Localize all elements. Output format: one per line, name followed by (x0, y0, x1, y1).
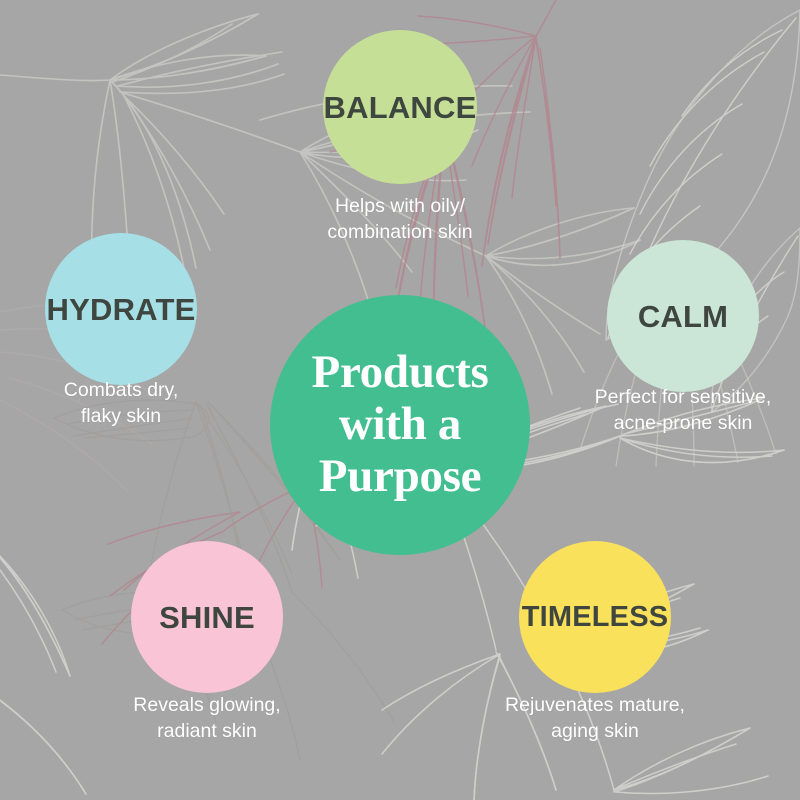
bubble-circle-calm[interactable]: CALM (607, 240, 759, 392)
bubble-circle-hydrate[interactable]: HYDRATE (45, 233, 197, 385)
center-node[interactable]: Products with a Purpose (270, 295, 530, 555)
bubble-caption-timeless: Rejuvenates mature, aging skin (465, 693, 725, 744)
bubble-circle-timeless[interactable]: TIMELESS (519, 541, 671, 693)
bubble-caption-shine: Reveals glowing, radiant skin (82, 693, 332, 744)
center-title: Products with a Purpose (312, 347, 489, 502)
bubble-node-shine[interactable]: SHINE Reveals glowing, radiant skin (131, 541, 283, 693)
infographic-canvas: BALANCE Helps with oily/ combination ski… (0, 0, 800, 800)
bubble-node-balance[interactable]: BALANCE Helps with oily/ combination ski… (323, 30, 477, 184)
bubble-node-timeless[interactable]: TIMELESS Rejuvenates mature, aging skin (519, 541, 671, 693)
bubble-caption-balance: Helps with oily/ combination skin (280, 194, 520, 245)
bubble-label-timeless: TIMELESS (522, 603, 669, 632)
bubble-label-balance: BALANCE (324, 92, 477, 123)
bubble-caption-calm: Perfect for sensitive, acne-prone skin (558, 385, 800, 436)
center-circle[interactable]: Products with a Purpose (270, 295, 530, 555)
bubble-label-shine: SHINE (159, 602, 255, 633)
bubble-node-hydrate[interactable]: HYDRATE Combats dry, flaky skin (45, 233, 197, 385)
bubble-label-hydrate: HYDRATE (47, 294, 196, 325)
bubble-circle-balance[interactable]: BALANCE (323, 30, 477, 184)
bubble-label-calm: CALM (638, 301, 728, 332)
bubble-circle-shine[interactable]: SHINE (131, 541, 283, 693)
bubble-node-calm[interactable]: CALM Perfect for sensitive, acne-prone s… (607, 240, 759, 392)
bubble-caption-hydrate: Combats dry, flaky skin (6, 378, 236, 429)
